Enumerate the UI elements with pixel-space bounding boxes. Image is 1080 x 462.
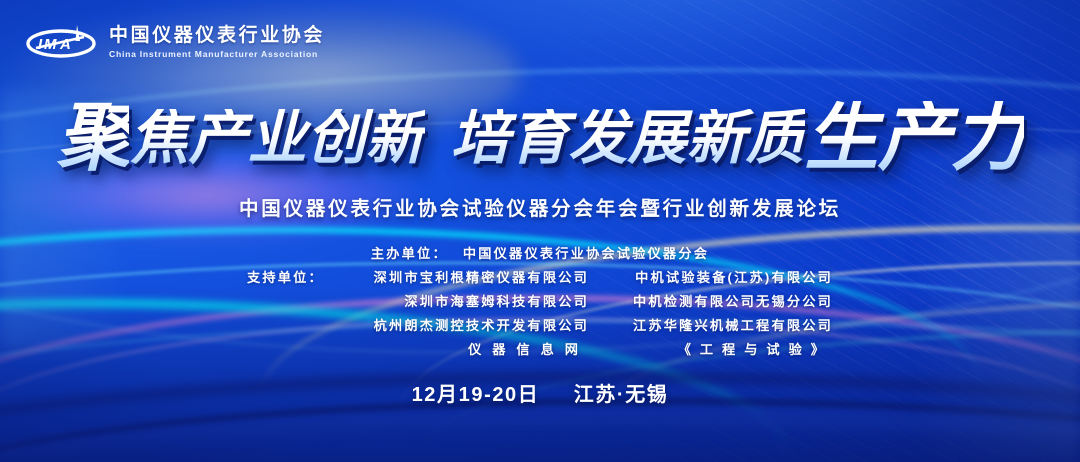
support-row-3: 杭州朗杰测控技术开发有限公司 江苏华隆兴机械工程有限公司 [247, 315, 833, 334]
support-left-2: 深圳市海塞姆科技有限公司 [339, 291, 589, 310]
host-label: 主办单位： [371, 243, 463, 262]
main-title: 聚 焦产业创新 培育发展新质 生产力 [0, 92, 1080, 184]
host-value: 中国仪器仪表行业协会试验仪器分会 [463, 243, 709, 262]
date-location-line: 12月19-20日 江苏·无锡 [0, 378, 1080, 407]
association-logo: I M A 中国仪器仪表行业协会 China Instrument Manufa… [24, 22, 325, 62]
support-row-2: 深圳市海塞姆科技有限公司 中机检测有限公司无锡分公司 [247, 291, 833, 310]
support-left-4: 仪器信息网 [339, 339, 589, 358]
title-phrase-1: 焦产业创新 [129, 109, 424, 168]
event-subtitle: 中国仪器仪表行业协会试验仪器分会年会暨行业创新发展论坛 [0, 192, 1080, 221]
svg-text:A: A [59, 36, 71, 53]
support-row-1: 支持单位： 深圳市宝利根精密仪器有限公司 中机试验装备(江苏)有限公司 [247, 267, 833, 286]
support-left-1: 深圳市宝利根精密仪器有限公司 [339, 267, 589, 286]
logo-chinese-name: 中国仪器仪表行业协会 [109, 26, 325, 45]
title-phrase-2: 培育发展新质 [451, 109, 805, 168]
host-line: 主办单位： 中国仪器仪表行业协会试验仪器分会 [371, 243, 709, 262]
support-label: 支持单位： [247, 267, 339, 286]
organizer-block: 主办单位： 中国仪器仪表行业协会试验仪器分会 支持单位： 深圳市宝利根精密仪器有… [0, 243, 1080, 358]
support-row-4: 仪器信息网 《工程与试验》 [247, 339, 833, 358]
conference-banner: I M A 中国仪器仪表行业协会 China Instrument Manufa… [0, 0, 1080, 462]
logo-english-name: China Instrument Manufacturer Associatio… [109, 50, 325, 59]
support-right-3: 江苏华隆兴机械工程有限公司 [611, 315, 833, 334]
svg-text:I: I [38, 36, 43, 53]
title-phrase-3: 生产力 [805, 101, 1024, 175]
support-right-2: 中机检测有限公司无锡分公司 [611, 291, 833, 310]
event-date: 12月19-20日 [412, 384, 540, 406]
title-char-first: 聚 [56, 101, 129, 175]
support-right-4: 《工程与试验》 [611, 339, 833, 358]
ima-logo-icon: I M A [24, 22, 98, 62]
support-left-3: 杭州朗杰测控技术开发有限公司 [339, 315, 589, 334]
support-right-1: 中机试验装备(江苏)有限公司 [611, 267, 833, 286]
event-location: 江苏·无锡 [574, 384, 669, 406]
